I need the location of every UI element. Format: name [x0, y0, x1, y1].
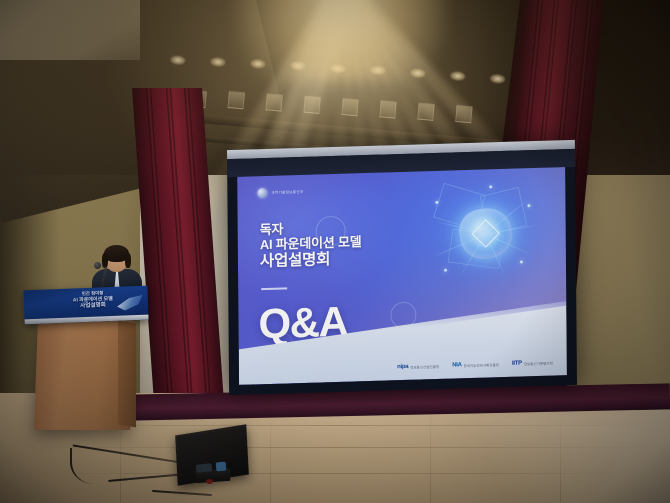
auditorium-photo: 과학기술정보통신부 독자 AI 파운데이션 모델 사업설명회 Q&A nipa … [0, 0, 670, 503]
footer-logo-mark: nipa [397, 364, 408, 370]
ceiling-soffit [0, 0, 140, 60]
monitor-accessory [216, 462, 227, 472]
spotlight-core [236, 0, 446, 80]
slide-organization-logo: 과학기술정보통신부 [257, 187, 303, 198]
podium-side-panel [118, 321, 136, 428]
monitor-accessory [196, 463, 213, 473]
ai-brain-chip-graphic [431, 182, 540, 285]
projection-screen: 과학기술정보통신부 독자 AI 파운데이션 모델 사업설명회 Q&A nipa … [227, 140, 577, 395]
footer-logo-text: 정보통신기획평가원 [524, 360, 553, 366]
slide-organization-label: 과학기술정보통신부 [271, 189, 303, 195]
footer-logo-iitp: IITP 정보통신기획평가원 [512, 360, 553, 367]
presentation-slide: 과학기술정보통신부 독자 AI 파운데이션 모델 사업설명회 Q&A nipa … [237, 167, 567, 385]
footer-logo-mark: NIA [452, 362, 461, 368]
slide-title: 독자 AI 파운데이션 모델 사업설명회 [260, 219, 362, 271]
footer-logo-mark: IITP [512, 360, 522, 366]
footer-logo-nipa: nipa 정보통신산업진흥원 [397, 363, 439, 370]
slide-title-line-3: 사업설명회 [260, 250, 362, 271]
footer-logo-text: 한국지능정보사회진흥원 [464, 362, 499, 368]
podium-banner-text: 민간 참여형 AI 파운데이션 모델 사업설명회 [49, 289, 136, 311]
slide-title-line-2: AI 파운데이션 모델 [260, 235, 362, 253]
footer-logo-text: 정보통신산업진흥원 [410, 363, 439, 369]
podium-banner: 민간 참여형 AI 파운데이션 모델 사업설명회 [23, 286, 148, 325]
ministry-emblem-icon [257, 188, 267, 198]
monitor-indicator [206, 479, 213, 484]
microphone-icon [94, 262, 101, 269]
